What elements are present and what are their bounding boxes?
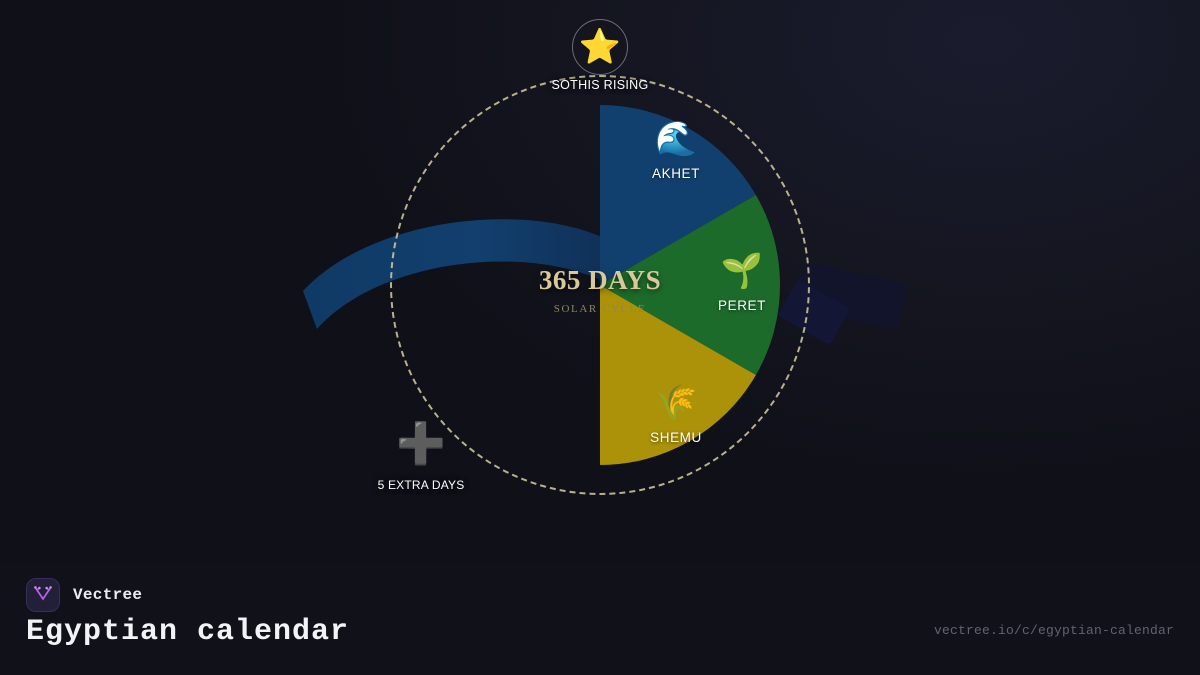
vectree-logo-icon — [26, 578, 60, 612]
page-title: Egyptian calendar — [26, 615, 349, 649]
footer-url: vectree.io/c/egyptian-calendar — [934, 623, 1174, 638]
brand-name: Vectree — [73, 586, 142, 604]
calendar-wheel: 🌊 AKHET 🌱 PERET 🌾 SHEMU — [420, 105, 780, 465]
season-label-akhet: AKHET — [596, 166, 756, 181]
plus-icon: ➕ — [393, 424, 449, 464]
star-icon: ⭐ — [572, 19, 628, 75]
wave-icon: 🌊 — [646, 122, 706, 156]
brand[interactable]: Vectree — [26, 578, 142, 612]
seedling-icon: 🌱 — [712, 254, 772, 288]
node-label-sothis-rising: SOTHIS RISING — [525, 78, 675, 92]
season-label-peret: PERET — [662, 298, 822, 313]
node-label-extra-days: 5 EXTRA DAYS — [346, 478, 496, 492]
star-glyph: ⭐ — [579, 30, 621, 64]
node-extra-days[interactable]: ➕ 5 EXTRA DAYS — [393, 424, 449, 464]
footer-bar: Vectree Egyptian calendar vectree.io/c/e… — [0, 565, 1200, 675]
season-label-shemu: SHEMU — [596, 430, 756, 445]
sheaf-of-rice-icon: 🌾 — [646, 386, 706, 420]
node-sothis-rising[interactable]: ⭐ SOTHIS RISING — [572, 19, 628, 75]
